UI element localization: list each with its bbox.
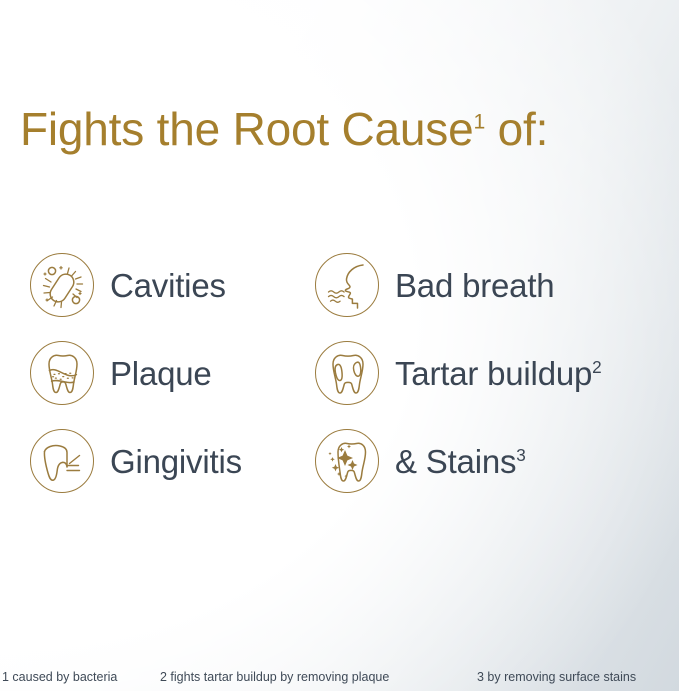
feature-label-text: Plaque	[110, 355, 212, 392]
feature-label-text: Cavities	[110, 267, 226, 304]
feature-item-gingivitis: Gingivitis	[30, 429, 242, 493]
tooth-plaque-icon	[30, 341, 94, 405]
feature-item-plaque: Plaque	[30, 341, 212, 405]
footnote-2: 2 fights tartar buildup by removing plaq…	[160, 670, 389, 684]
feature-item-bad-breath: Bad breath	[315, 253, 554, 317]
feature-label-superscript: 3	[516, 445, 525, 465]
footnote-1: 1 caused by bacteria	[2, 670, 117, 684]
face-profile-breath-icon	[315, 253, 379, 317]
feature-label-text: Tartar buildup	[395, 355, 592, 392]
feature-label-superscript: 2	[592, 357, 601, 377]
feature-label-stains: & Stains3	[395, 445, 526, 478]
tooth-gum-inflammation-icon	[30, 429, 94, 493]
feature-label-text: & Stains	[395, 443, 516, 480]
feature-label-plaque: Plaque	[110, 357, 212, 390]
feature-item-cavities: Cavities	[30, 253, 226, 317]
feature-label-text: Gingivitis	[110, 443, 242, 480]
feature-label-text: Bad breath	[395, 267, 554, 304]
footnote-3: 3 by removing surface stains	[477, 670, 636, 684]
tooth-sparkle-stains-icon	[315, 429, 379, 493]
feature-label-tartar-buildup: Tartar buildup2	[395, 357, 602, 390]
feature-label-gingivitis: Gingivitis	[110, 445, 242, 478]
tooth-tartar-icon	[315, 341, 379, 405]
feature-label-bad-breath: Bad breath	[395, 269, 554, 302]
feature-grid: Cavities Bad breath	[0, 0, 679, 691]
feature-item-tartar-buildup: Tartar buildup2	[315, 341, 602, 405]
feature-item-stains: & Stains3	[315, 429, 526, 493]
feature-label-cavities: Cavities	[110, 269, 226, 302]
promo-panel: Fights the Root Cause1 of:	[0, 0, 679, 691]
bacteria-icon	[30, 253, 94, 317]
